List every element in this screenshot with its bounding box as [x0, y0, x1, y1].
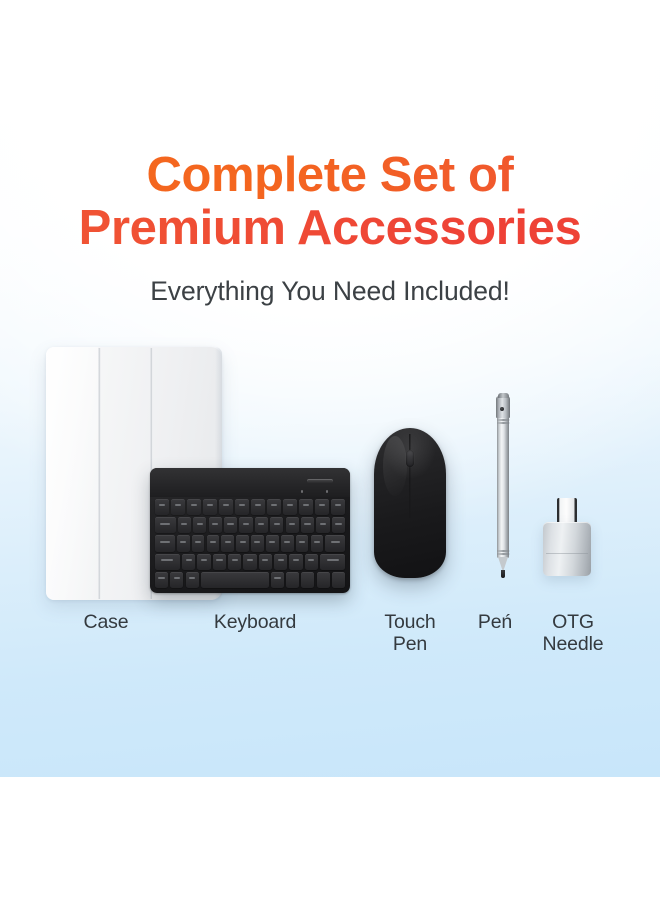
- product-label-pen: Peń: [460, 612, 530, 634]
- keyboard-key-grid: [155, 499, 345, 588]
- promo-banner: Complete Set of Premium Accessories Ever…: [0, 0, 660, 777]
- keyboard-key: [207, 535, 220, 551]
- keyboard-key: [155, 554, 180, 570]
- keyboard-key: [197, 554, 210, 570]
- keyboard-key: [266, 535, 279, 551]
- product-stage: [0, 330, 660, 605]
- keyboard-key: [192, 535, 205, 551]
- keyboard-key: [289, 554, 302, 570]
- pen-ring: [497, 419, 510, 421]
- pen-shaft: [497, 414, 509, 558]
- otg-body: [543, 522, 591, 576]
- keyboard-key: [224, 517, 237, 533]
- keyboard-key: [274, 554, 287, 570]
- keyboard-key: [271, 572, 284, 588]
- keyboard-key: [299, 499, 313, 515]
- keyboard-key: [177, 535, 190, 551]
- mouse-highlight: [383, 436, 407, 496]
- product-label-otg-line1: OTG: [552, 611, 594, 633]
- keyboard-key: [251, 499, 265, 515]
- mouse-body: [374, 428, 446, 578]
- keyboard-key: [219, 499, 233, 515]
- keyboard-key: [155, 572, 168, 588]
- otg-usb-c-plug: [557, 498, 577, 524]
- product-label-otg: OTG Needle: [527, 612, 619, 656]
- keyboard-row: [155, 499, 345, 515]
- keyboard-key: [239, 517, 252, 533]
- keyboard-row: [155, 572, 345, 588]
- product-label-touch-pen: Touch Pen: [358, 612, 462, 656]
- keyboard-key: [255, 517, 268, 533]
- headline-line-2: Premium Accessories: [0, 205, 660, 252]
- keyboard-key: [235, 499, 249, 515]
- keyboard-key: [171, 499, 185, 515]
- product-label-otg-line2: Needle: [543, 633, 604, 655]
- keyboard-key: [270, 517, 283, 533]
- keyboard-key: [311, 535, 324, 551]
- keyboard-key: [301, 517, 314, 533]
- keyboard-key: [332, 517, 345, 533]
- keyboard-key: [187, 499, 201, 515]
- otg-seam: [546, 553, 588, 554]
- mouse-button-split: [409, 434, 410, 518]
- product-label-touch-pen-line2: Pen: [393, 633, 427, 655]
- otg-adapter-icon: [543, 498, 591, 576]
- keyboard-key: [201, 572, 269, 588]
- stylus-pen-icon: [493, 392, 513, 580]
- keyboard-key: [155, 499, 169, 515]
- keyboard-status-led: [326, 490, 329, 493]
- keyboard-bezel: [150, 468, 350, 497]
- headline-block: Complete Set of Premium Accessories: [0, 152, 660, 252]
- keyboard-key: [182, 554, 195, 570]
- keyboard-icon: [150, 468, 350, 593]
- keyboard-key: [243, 554, 256, 570]
- product-label-row: Case Keyboard Touch Pen Peń OTG Needle: [0, 612, 660, 672]
- keyboard-key: [316, 517, 329, 533]
- keyboard-key: [320, 554, 345, 570]
- keyboard-key: [203, 499, 217, 515]
- keyboard-row: [155, 535, 345, 551]
- keyboard-key: [221, 535, 234, 551]
- keyboard-key: [325, 535, 345, 551]
- keyboard-body: [150, 468, 350, 593]
- keyboard-key: [305, 554, 318, 570]
- pen-cap-top: [498, 393, 509, 398]
- keyboard-key: [315, 499, 329, 515]
- keyboard-key: [236, 535, 249, 551]
- keyboard-key: [228, 554, 241, 570]
- keyboard-key: [296, 535, 309, 551]
- keyboard-row: [155, 554, 345, 570]
- keyboard-key: [155, 517, 176, 533]
- keyboard-key: [331, 499, 345, 515]
- pen-ring: [497, 550, 510, 552]
- case-fold-line: [98, 348, 101, 599]
- keyboard-key: [332, 572, 345, 588]
- keyboard-key: [283, 499, 297, 515]
- keyboard-key: [267, 499, 281, 515]
- keyboard-key: [213, 554, 226, 570]
- keyboard-indicator-slot: [307, 479, 333, 483]
- keyboard-key: [193, 517, 206, 533]
- keyboard-row: [155, 517, 345, 533]
- keyboard-key: [178, 517, 191, 533]
- pen-ring: [497, 422, 510, 424]
- wireless-mouse-icon: [374, 428, 446, 578]
- headline-subtitle: Everything You Need Included!: [0, 276, 660, 307]
- keyboard-key: [251, 535, 264, 551]
- keyboard-key: [301, 572, 314, 588]
- case-highlight: [46, 347, 98, 600]
- product-label-keyboard: Keyboard: [180, 612, 330, 634]
- keyboard-key: [286, 517, 299, 533]
- keyboard-key: [317, 572, 330, 588]
- product-label-case: Case: [46, 612, 166, 634]
- keyboard-key: [186, 572, 199, 588]
- keyboard-status-led: [301, 490, 304, 493]
- keyboard-key: [155, 535, 175, 551]
- product-label-touch-pen-line1: Touch: [384, 611, 435, 633]
- pen-ring: [497, 553, 510, 555]
- keyboard-key: [209, 517, 222, 533]
- keyboard-key: [170, 572, 183, 588]
- headline-line-1: Complete Set of: [0, 152, 660, 199]
- keyboard-key: [259, 554, 272, 570]
- keyboard-key: [281, 535, 294, 551]
- keyboard-key: [286, 572, 299, 588]
- pen-tip: [501, 570, 505, 578]
- mouse-scroll-wheel: [406, 450, 414, 467]
- letterbox-bottom: [0, 777, 660, 900]
- pen-power-button: [500, 407, 504, 411]
